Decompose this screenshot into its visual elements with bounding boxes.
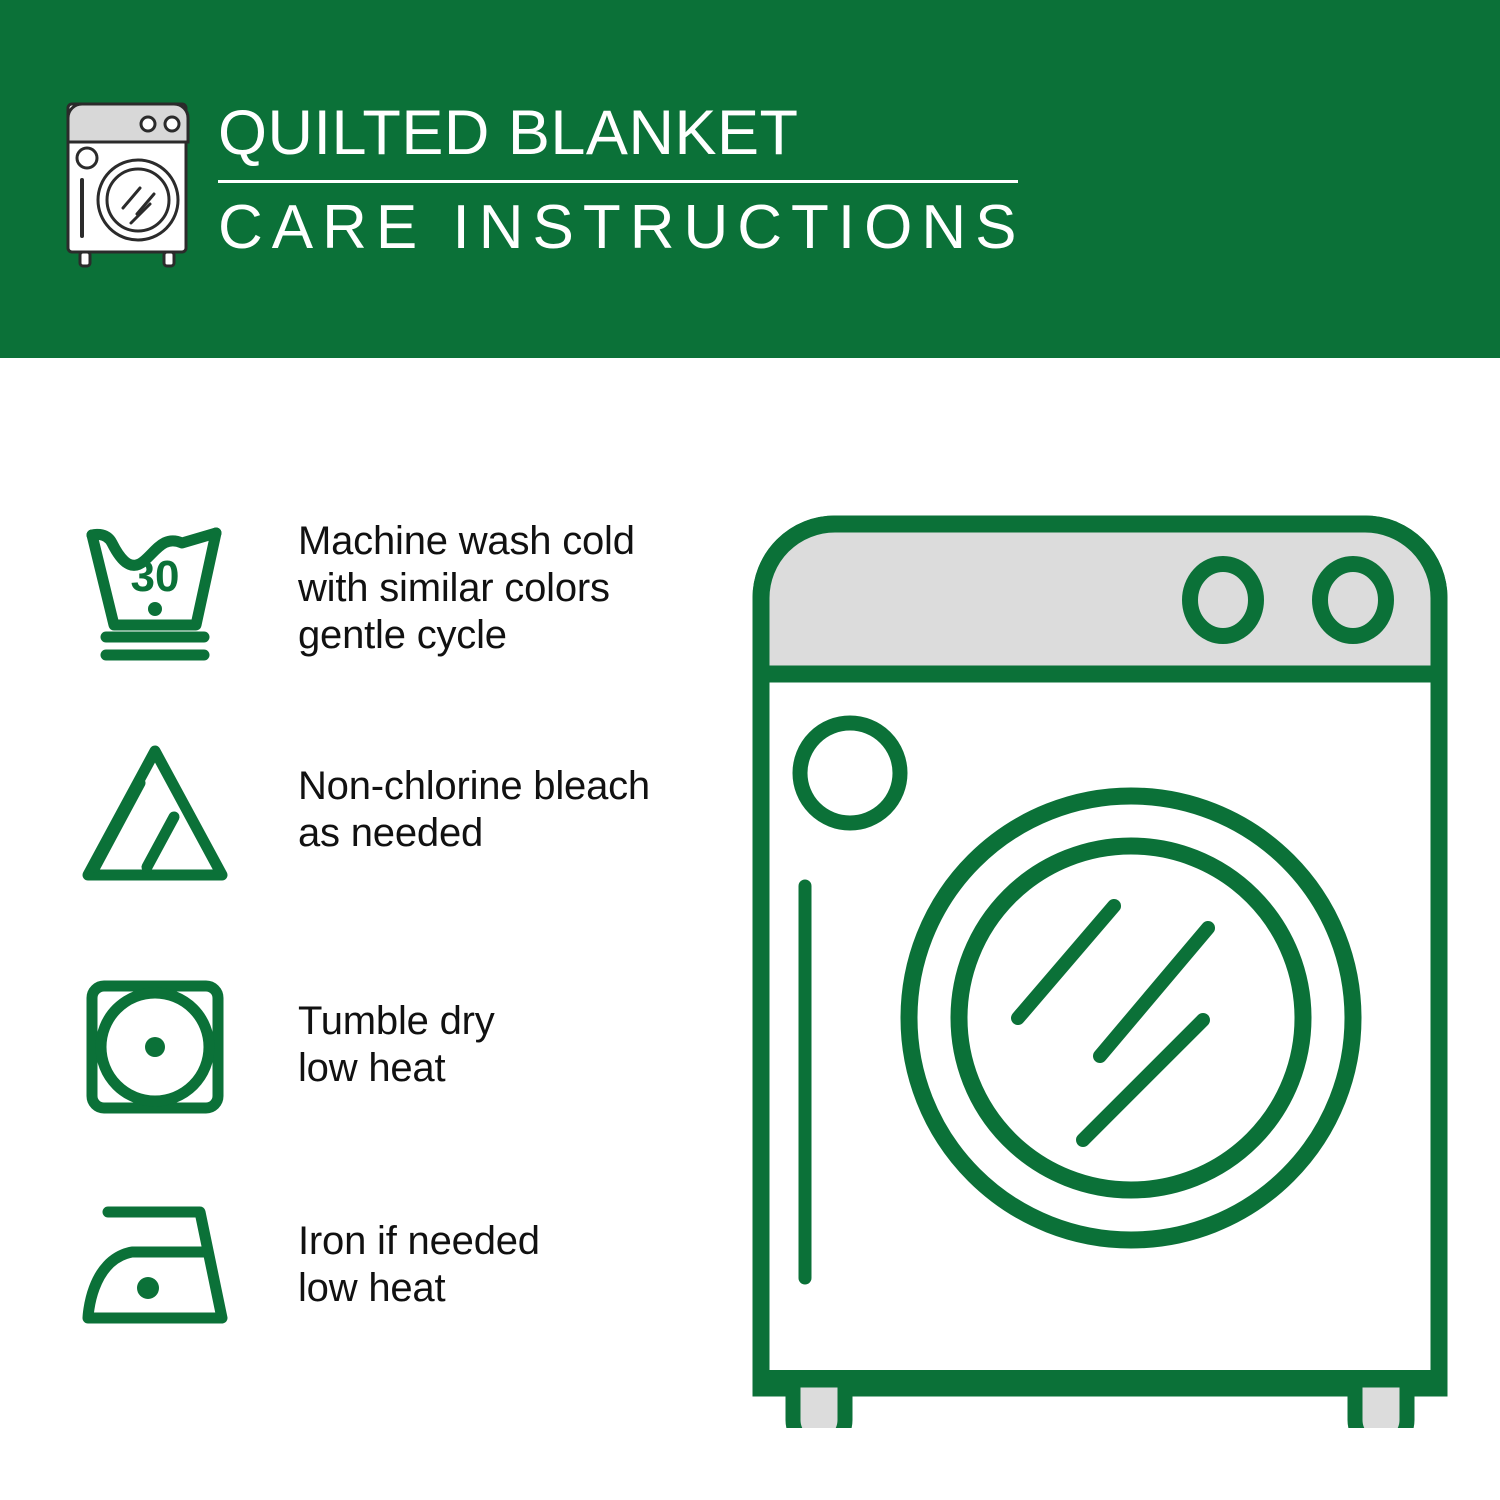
list-item: Non-chlorine bleach as needed [70,730,710,890]
washing-machine-illustration [745,508,1455,1428]
page-subtitle: CARE INSTRUCTIONS [218,193,1025,263]
title-divider [218,180,1018,183]
list-item-label: Iron if needed low heat [298,1218,540,1312]
header-content: QUILTED BLANKET CARE INSTRUCTIONS [60,96,1025,268]
content-area: 30 Machine wash cold with similar colors… [0,358,1500,1500]
label-line: as needed [298,810,650,857]
list-item-label: Non-chlorine bleach as needed [298,763,650,857]
label-line: Iron if needed [298,1218,540,1265]
list-item: Tumble dry low heat [70,970,710,1120]
leg-right [1355,1380,1407,1428]
label-line: low heat [298,1045,495,1092]
list-item: Iron if needed low heat [70,1190,710,1340]
non-chlorine-bleach-triangle-icon [70,735,240,885]
leg-left [793,1380,845,1428]
label-line: gentle cycle [298,612,635,659]
top-control-panel [761,524,1439,674]
washing-machine-icon [60,96,200,268]
label-line: with similar colors [298,565,635,612]
label-line: Non-chlorine bleach [298,763,650,810]
label-line: Tumble dry [298,998,495,1045]
label-line: low heat [298,1265,540,1312]
list-item-label: Tumble dry low heat [298,998,495,1092]
header-banner: QUILTED BLANKET CARE INSTRUCTIONS [0,0,1500,358]
list-item: 30 Machine wash cold with similar colors… [70,508,710,668]
list-item-label: Machine wash cold with similar colors ge… [298,518,635,659]
machine-wash-30-basin-icon: 30 [70,513,240,663]
header-text-block: QUILTED BLANKET CARE INSTRUCTIONS [218,96,1025,263]
wash-temperature-label: 30 [131,552,180,601]
tumble-dry-low-heat-icon [70,970,240,1120]
page-title: QUILTED BLANKET [218,100,1025,166]
label-line: Machine wash cold [298,518,635,565]
iron-low-heat-icon [70,1190,240,1340]
